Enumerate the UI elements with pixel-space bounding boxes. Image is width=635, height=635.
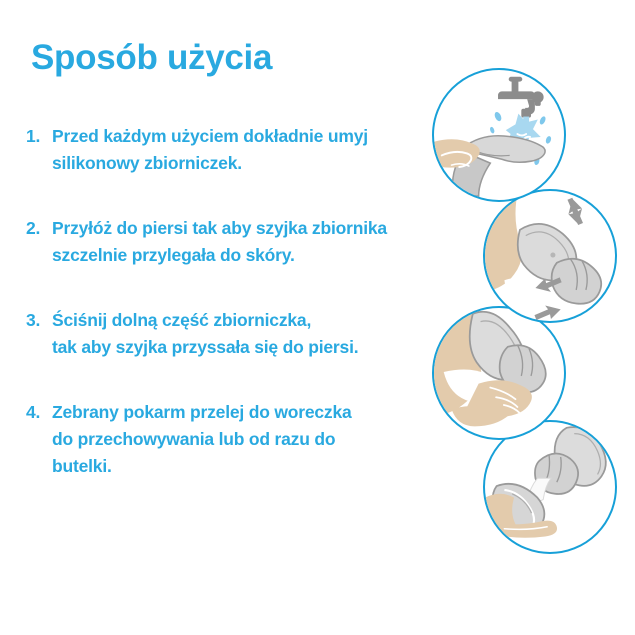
step-number-1: 1. [26, 123, 52, 150]
cup-on-breast-with-arrows-icon [485, 191, 615, 321]
step-text-line: Przyłóż do piersi tak aby szyjka zbiorni… [52, 215, 416, 242]
step-text-line: butelki. [52, 453, 416, 480]
step-item-1: 1. Przed każdym użyciem dokładnie umyj s… [26, 123, 416, 177]
hand-washing-cup-under-faucet-icon [434, 70, 564, 200]
step-number-3: 3. [26, 307, 52, 334]
step-text-line: tak aby szyjka przyssała się do piersi. [52, 334, 416, 361]
step-item-3: 3. Ściśnij dolną część zbiorniczka, tak … [26, 307, 416, 361]
hand-squeezing-cup-icon [434, 308, 564, 438]
step-number-4: 4. [26, 399, 52, 426]
step-item-4: 4. Zebrany pokarm przelej do woreczka do… [26, 399, 416, 480]
step-text-3: Ściśnij dolną część zbiorniczka, tak aby… [52, 307, 416, 361]
steps-list: 1. Przed każdym użyciem dokładnie umyj s… [26, 123, 416, 480]
step-text-line: Ściśnij dolną część zbiorniczka, [52, 307, 416, 334]
text-column: Sposób użycia 1. Przed każdym użyciem do… [0, 0, 420, 635]
illustration-circle-3 [432, 306, 566, 440]
page-title: Sposób użycia [31, 40, 272, 77]
step-text-line: silikonowy zbiorniczek. [52, 150, 416, 177]
step-text-line: szczelnie przylegała do skóry. [52, 242, 416, 269]
step-text-line: Przed każdym użyciem dokładnie umyj [52, 123, 416, 150]
step-text-1: Przed każdym użyciem dokładnie umyj sili… [52, 123, 416, 177]
step-number-2: 2. [26, 215, 52, 242]
step-text-line: do przechowywania lub od razu do [52, 426, 416, 453]
illustration-circle-1 [432, 68, 566, 202]
illustration-circle-2 [483, 189, 617, 323]
step-text-2: Przyłóż do piersi tak aby szyjka zbiorni… [52, 215, 416, 269]
instruction-panel: Sposób użycia 1. Przed każdym użyciem do… [0, 0, 635, 635]
illustration-circle-4 [483, 420, 617, 554]
step-item-2: 2. Przyłóż do piersi tak aby szyjka zbio… [26, 215, 416, 269]
step-text-line: Zebrany pokarm przelej do woreczka [52, 399, 416, 426]
step-text-4: Zebrany pokarm przelej do woreczka do pr… [52, 399, 416, 480]
pouring-milk-into-bag-icon [485, 422, 615, 552]
